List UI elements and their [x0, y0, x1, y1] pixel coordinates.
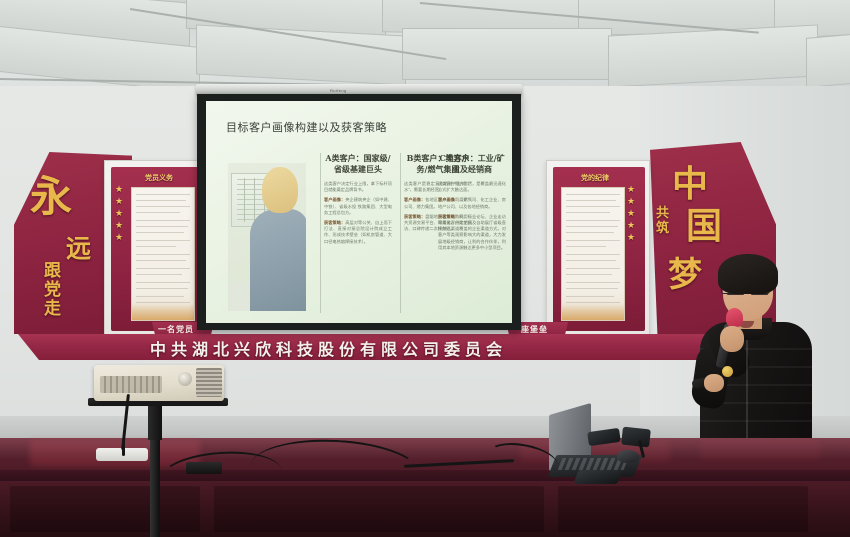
board-right-header: 党的纪律 [569, 173, 621, 183]
screen-brand-label: Ruifeng [330, 88, 347, 93]
desk-object-3 [573, 470, 622, 484]
presenter-hand-mic [720, 326, 744, 352]
microphone-icon[interactable] [726, 308, 743, 327]
board-left-text-panel [131, 187, 195, 321]
wing-char-gendangzou: 跟党走 [44, 262, 66, 319]
desk-object-2 [621, 427, 651, 448]
presenter-hand-clicker [704, 374, 724, 392]
wing-char-guo: 国 [686, 208, 723, 244]
col-c-p1: 这类客户量大面广，是覆盖最迅速化方式扩大触达面。 [438, 181, 506, 193]
slide-column-c-header: C类客户：工业/矿业及经销商 [438, 153, 506, 175]
projector-lens-icon [178, 372, 192, 386]
company-banner-text: 中共湖北兴欣科技股份有限公司委员会 [150, 336, 590, 360]
projector-stand-pole [150, 436, 160, 537]
col-b-strategy-label: 获客策略： [404, 214, 425, 219]
board-left-stars: ★★★★★ [115, 185, 123, 242]
mini-banner-left-text: 一名党员 [158, 324, 194, 335]
col-a-strategy-label: 获客策略： [324, 220, 345, 225]
projector-ports [100, 376, 162, 393]
presentation-slide: 目标客户画像构建以及获客策略 [206, 101, 512, 323]
col-a-p1: 这类客户决定行业上限，拿下标杆项目就能奠定品牌背书。 [324, 181, 392, 193]
col-c-profile-label: 客户画像： [438, 197, 459, 202]
mouse[interactable] [617, 450, 639, 463]
cable-to-strip [122, 440, 125, 456]
projector-vent [196, 368, 222, 397]
slide-photo [228, 163, 306, 311]
board-right-text-panel [561, 187, 625, 321]
wing-char-yuan: 远 [66, 236, 92, 261]
wall-board-left: 党员义务 ★★★★★ [104, 160, 208, 336]
wing-char-zhong: 中 [672, 166, 709, 202]
projector-stand-column [148, 404, 162, 440]
wall-board-right: 党的纪律 ★★★★★ [546, 160, 650, 336]
col-c-p3: 利用行业论坛、企业走访等渠道，借助工具及自助展厅省级直接触达渠道覆盖的企业渠道方… [438, 214, 506, 250]
lapel-badge-icon [722, 366, 733, 377]
slide-column-a: A类客户：国家级/省级基建巨头 这类客户决定行业上限，拿下标杆项目就能奠定品牌背… [324, 153, 392, 249]
slide-column-c: C类客户：工业/矿业及经销商 这类客户量大面广，是覆盖最迅速化方式扩大触达面。 … [438, 153, 506, 255]
wing-char-yong: 永 [30, 176, 73, 218]
slide-column-a-body: 这类客户决定行业上限，拿下标杆项目就能奠定品牌背书。 客户画像：央企建筑央企（如… [324, 181, 392, 245]
wing-char-gongzhu: 共筑 [656, 206, 671, 236]
board-right-stars: ★★★★★ [627, 185, 635, 242]
col-a-profile-label: 客户画像： [324, 197, 345, 202]
meeting-room-photo: 永 远 跟党走 中 国 共筑 梦 党员义务 ★★★★★ [0, 0, 850, 537]
slide-column-a-header: A类客户：国家级/省级基建巨头 [324, 153, 392, 175]
slide-column-c-body: 这类客户量大面广，是覆盖最迅速化方式扩大触达面。 客户画像：煤矿公司、化工企业、… [438, 181, 506, 251]
board-left-header: 党员义务 [133, 173, 185, 183]
col-c-strategy-label: 获客策略： [438, 214, 459, 219]
slide-title: 目标客户画像构建以及获客策略 [226, 119, 387, 135]
col-b-profile-label: 客户画像： [404, 197, 425, 202]
